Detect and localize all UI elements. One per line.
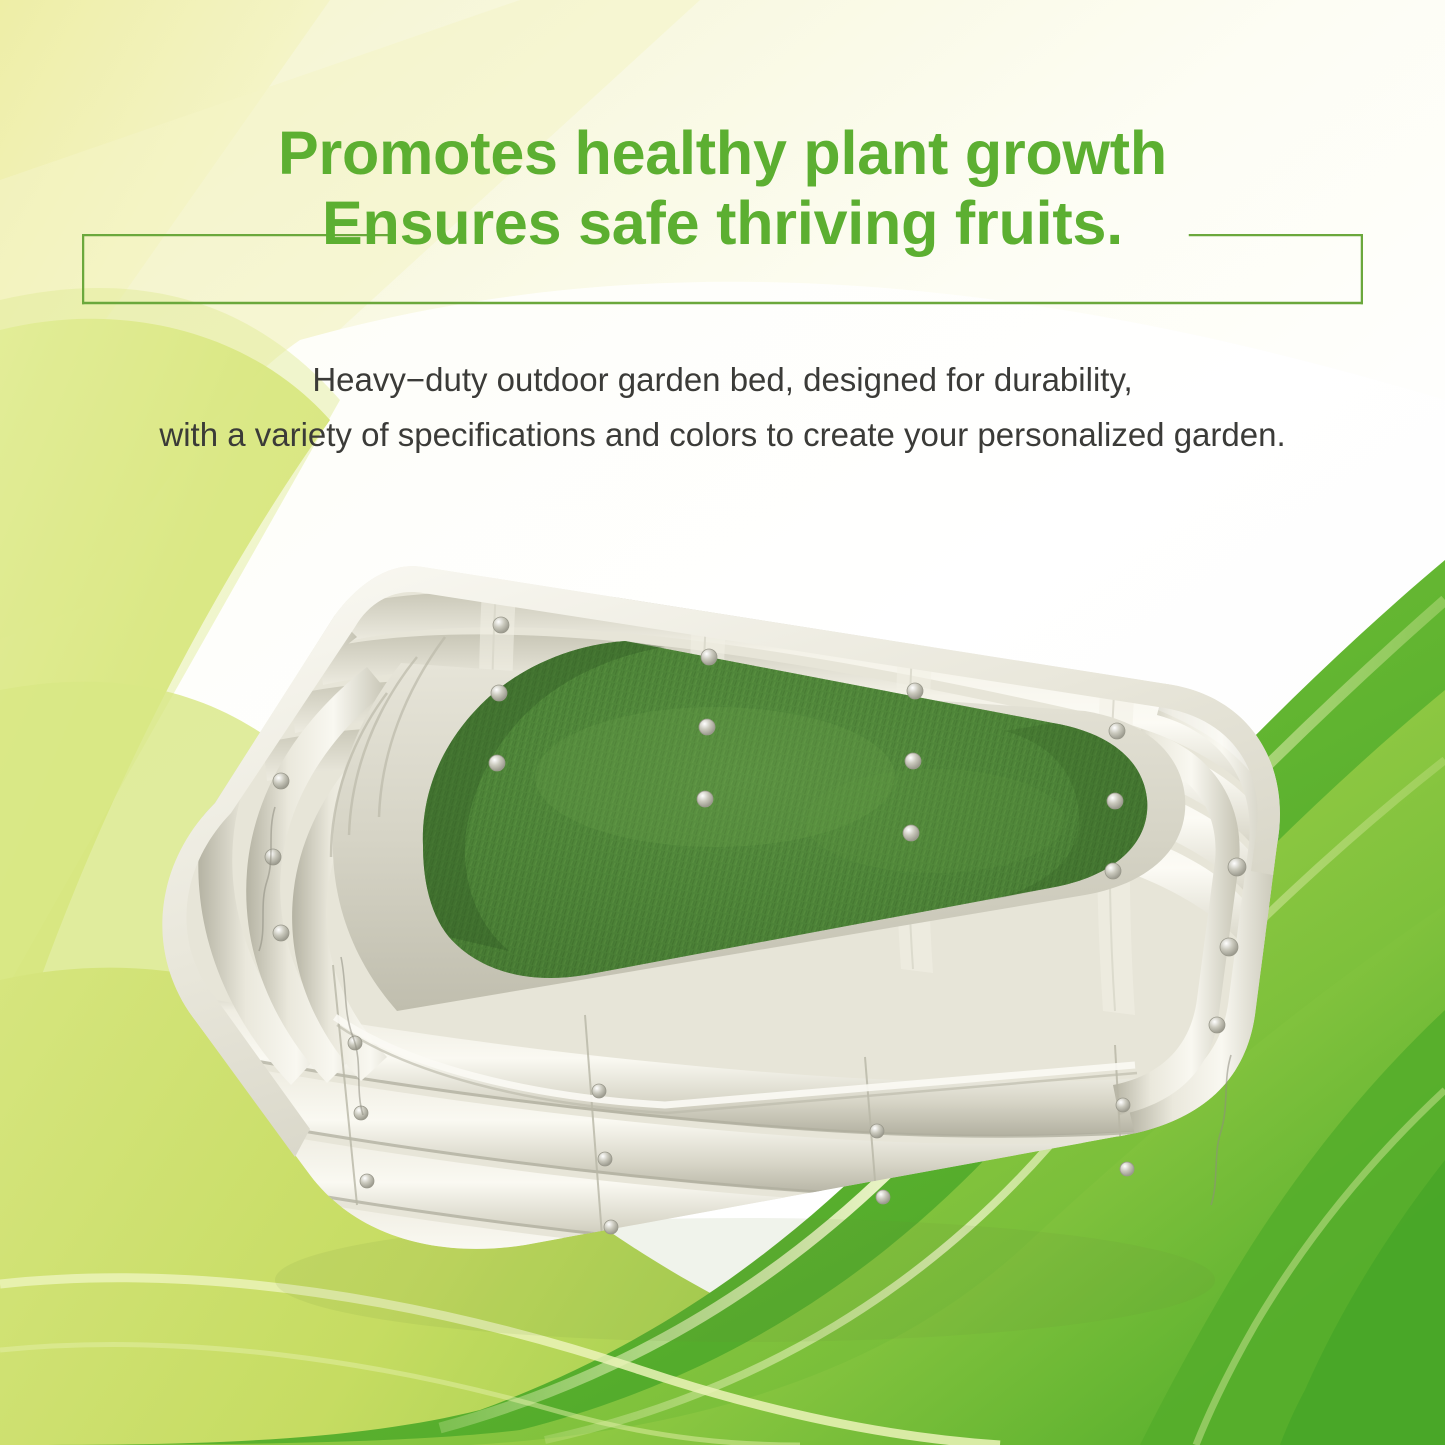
product-photo-oval-garden-bed bbox=[105, 545, 1305, 1375]
headline-line-1: Promotes healthy plant growth bbox=[0, 118, 1445, 188]
product-marketing-poster: Promotes healthy plant growth Ensures sa… bbox=[0, 0, 1445, 1445]
subtitle: Heavy−duty outdoor garden bed, designed … bbox=[0, 352, 1445, 462]
subtitle-line-2: with a variety of specifications and col… bbox=[0, 407, 1445, 462]
headline-line-2: Ensures safe thriving fruits. bbox=[0, 188, 1445, 258]
headline: Promotes healthy plant growth Ensures sa… bbox=[0, 118, 1445, 258]
subtitle-line-1: Heavy−duty outdoor garden bed, designed … bbox=[0, 352, 1445, 407]
